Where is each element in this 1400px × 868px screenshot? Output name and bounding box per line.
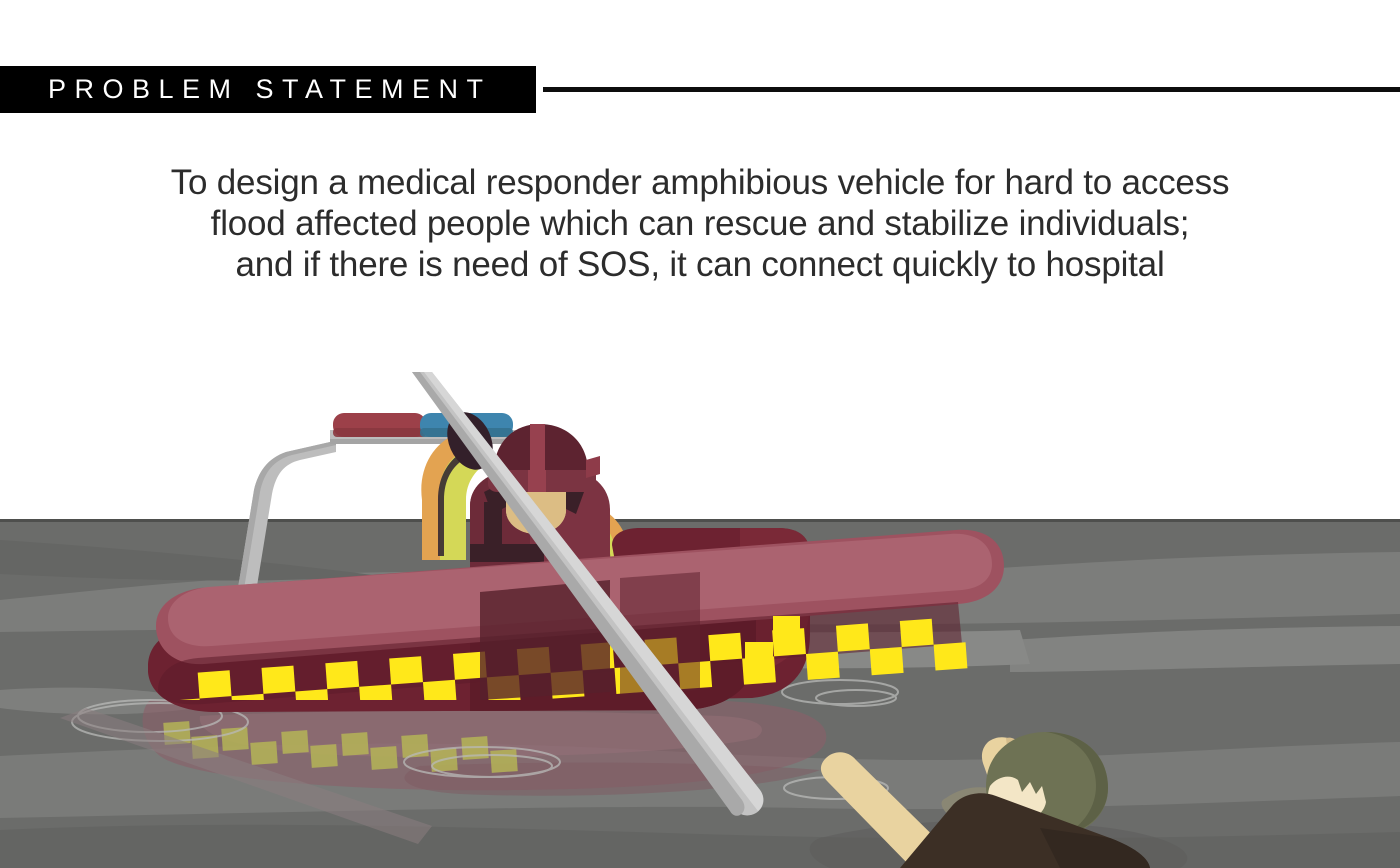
header-rule [543,87,1400,92]
rescuer-harness-band [470,544,544,562]
section-tag-label: PROBLEM STATEMENT [0,74,492,105]
water-surface-line [0,519,1400,522]
rescuer-helmet-brim-stripe [528,470,546,492]
slide-root: PROBLEM STATEMENT To design a medical re… [0,0,1400,868]
rescuer-harness-vertical [484,502,502,550]
statement-line-3: and if there is need of SOS, it can conn… [70,244,1330,285]
rescuer-helmet-side [586,456,600,478]
section-tag: PROBLEM STATEMENT [0,66,536,113]
statement-line-1: To design a medical responder amphibious… [70,162,1330,203]
header-band: PROBLEM STATEMENT [0,66,1400,113]
problem-statement-text: To design a medical responder amphibious… [70,162,1330,285]
flood-rescue-illustration [0,0,1400,868]
statement-line-2: flood affected people which can rescue a… [70,203,1330,244]
rescuer-helmet-stripe [530,424,545,472]
